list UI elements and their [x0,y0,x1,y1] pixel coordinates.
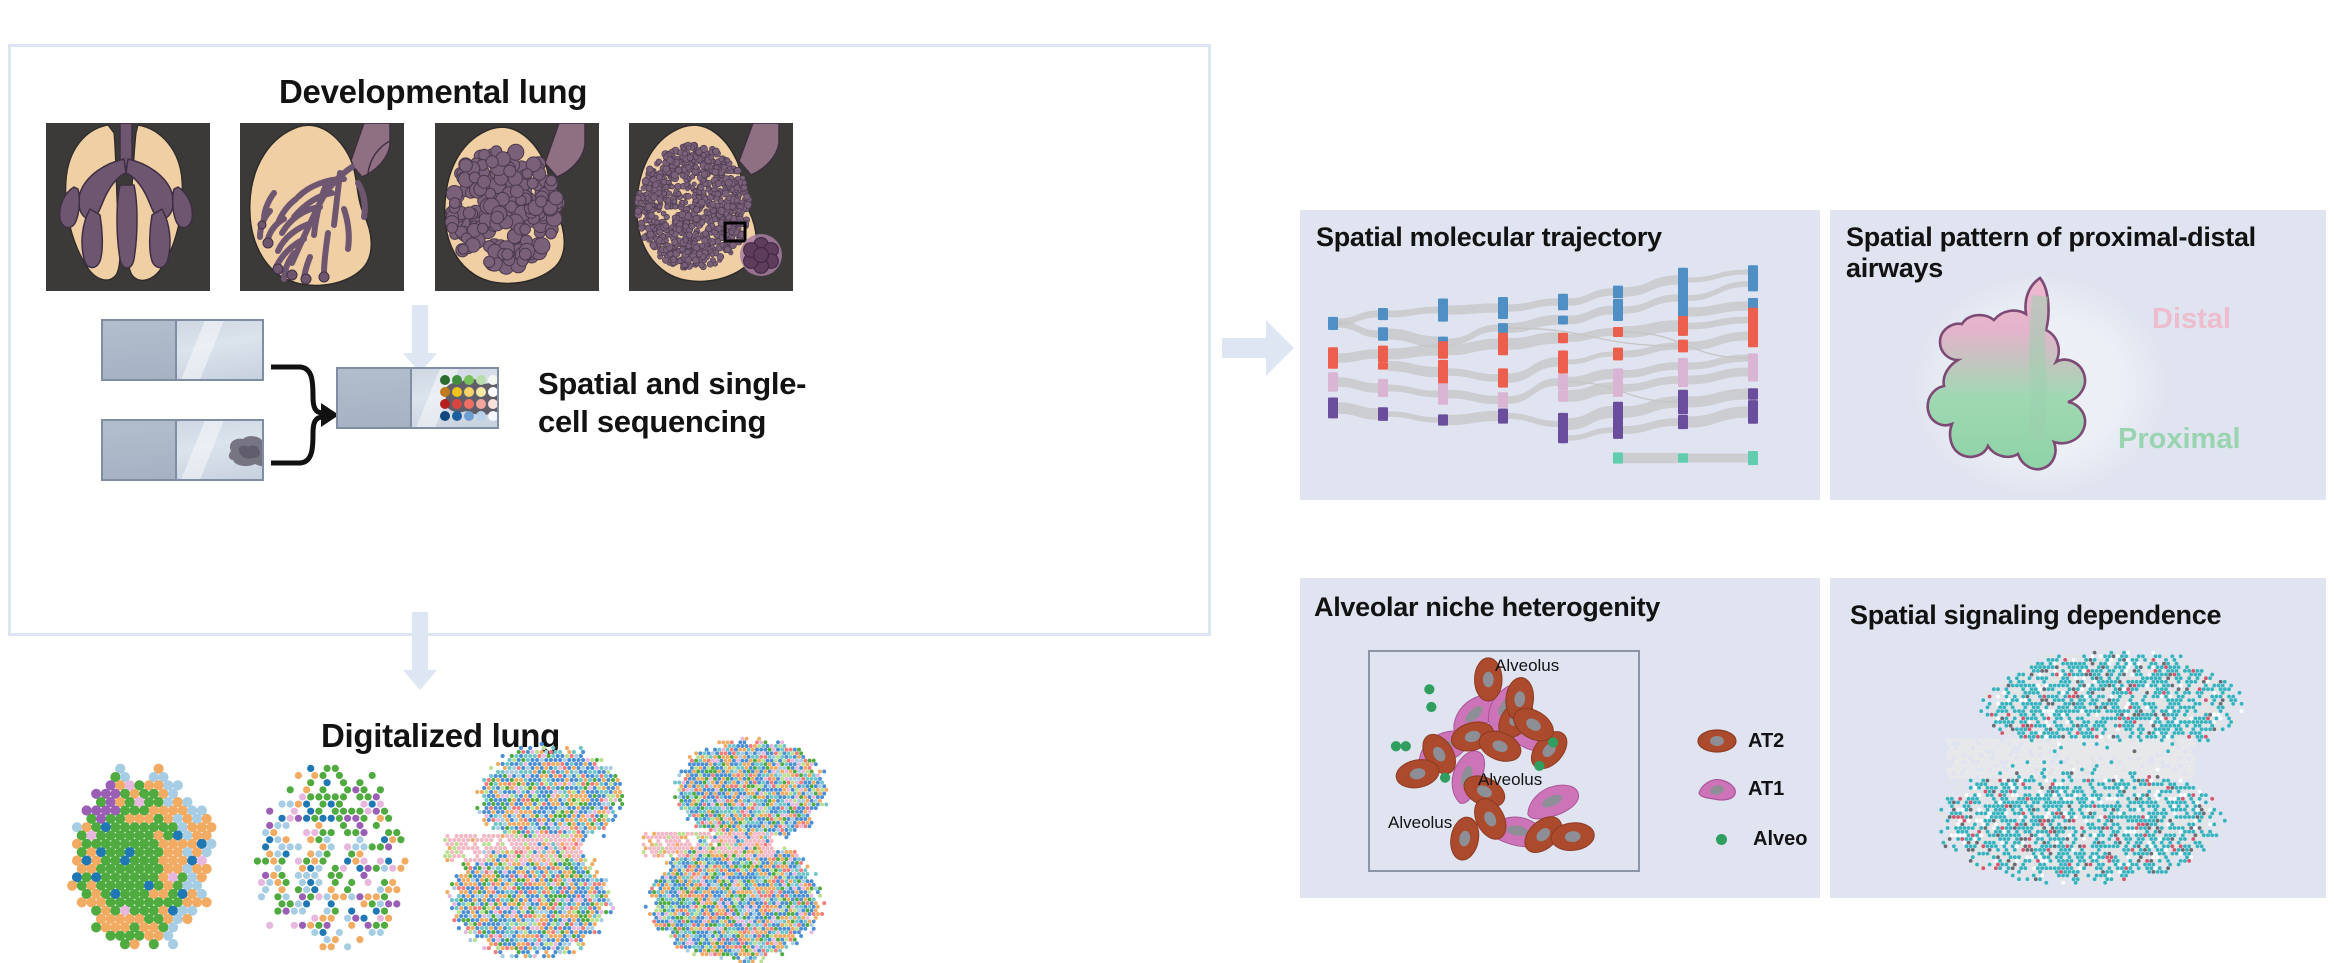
panel-title: Alveolar niche heterogenity [1314,592,1660,623]
alveolar-cluster-inset [740,234,782,276]
alveolus-label: Alveolus [1388,813,1452,833]
slide-glass [175,319,264,381]
spatial-spot-plot-2 [241,747,421,962]
workflow-arrow-down-2 [403,612,437,692]
hybridized-output-slide [336,367,499,429]
legend-label-alveolar-macrophage: Alveo [1753,828,1807,851]
legend-label-at1: AT1 [1748,778,1784,801]
barcoded-array-slide [101,319,264,381]
barcode-spot-grid-overlay [440,375,498,421]
barcode-spot-grid [263,330,264,372]
developmental-lung-title: Developmental lung [279,73,587,111]
stage-1-thumbnail [46,123,210,291]
figure-root: Developmental lung [0,0,2334,954]
legend-label-at2: AT2 [1748,730,1784,753]
alveolar-lung-icon [629,123,793,291]
panel-spatial-signaling-dependence: Spatial signaling dependence [1830,578,2326,898]
alveolus-label: Alveolus [1478,770,1542,790]
panel-spatial-molecular-trajectory: Spatial molecular trajectory [1300,210,1820,500]
legend-row-at2: AT2 [1696,728,1784,754]
slide-glass [410,367,499,429]
spatial-spot-plot-4 [631,735,831,963]
panel-title: Spatial signaling dependence [1850,600,2221,631]
workflow-arrow-right [1222,320,1294,376]
alluvial-trajectory-plot [1308,262,1812,494]
slide-frosted-end [101,319,175,381]
at1-cell-icon [1696,776,1738,802]
panel-title: Spatial molecular trajectory [1316,222,1662,253]
saccular-lung-icon [435,123,599,291]
spatial-spot-plot-3 [429,740,624,962]
tissue-section-icon [217,433,264,469]
workflow-container: Developmental lung [8,44,1211,636]
alveolar-niche-plot [1368,650,1640,872]
legend-row-alveolar-macrophage: Alveo [1702,828,1807,851]
canalicular-lung-icon [240,123,404,291]
merge-connector-arrow [269,335,339,495]
panel-alveolar-niche-heterogenity: Alveolar niche heterogenity Alveolus Alv… [1300,578,1820,898]
slide-frosted-end [101,419,175,481]
sequencing-step-title: Spatial and single-cell sequencing [538,365,848,441]
stage-4-thumbnail [629,123,793,291]
panel-spatial-pattern-proximal-distal: Spatial pattern of proximal-distal airwa… [1830,210,2326,500]
tissue-section-slide [101,419,264,481]
legend-row-at1: AT1 [1696,776,1784,802]
spatial-spot-plot-1 [53,752,233,962]
slide-glass [175,419,264,481]
airway-tree-diagram: Distal Proximal [1890,270,2320,498]
pseudoglandular-lung-icon [46,123,210,291]
workflow-arrow-down-1 [403,305,437,373]
proximal-label: Proximal [2118,423,2241,455]
stage-3-thumbnail [435,123,599,291]
signaling-spot-map [1872,638,2284,892]
distal-label: Distal [2152,303,2231,335]
alveolar-macrophage-dot [1716,834,1727,845]
stage-2-thumbnail [240,123,404,291]
at2-cell-icon [1696,728,1738,754]
alveolus-label: Alveolus [1495,656,1559,676]
slide-frosted-end [336,367,410,429]
